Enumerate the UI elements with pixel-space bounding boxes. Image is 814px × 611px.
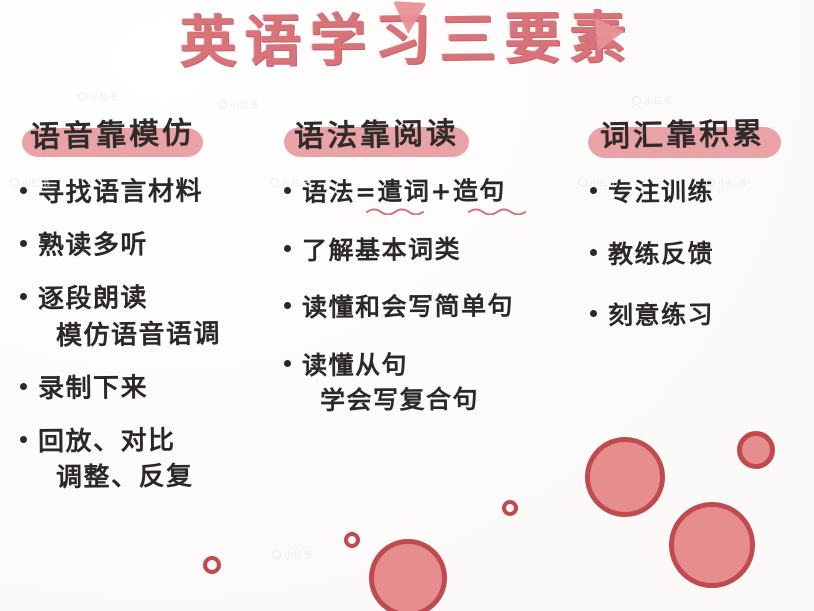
bullet-dot-icon	[590, 310, 597, 317]
list-item: 录制下来	[18, 370, 274, 407]
circle-right-small-decoration	[737, 431, 775, 469]
list-item-line: 模仿语音语调	[38, 315, 274, 355]
poster-header: 英语学习三要素	[0, 6, 814, 76]
list-grammar: 语法=遣词+造句	[282, 174, 572, 418]
list-item: 刻意练习	[588, 297, 808, 333]
list-item-line: 读懂和会写简单句	[302, 288, 572, 326]
list-vocabulary: 专注训练 教练反馈 刻意练习	[588, 174, 808, 333]
watermark-dot-icon	[10, 178, 19, 187]
list-item-line: 寻找语言材料	[38, 173, 274, 213]
circle-bottom-center-decoration	[369, 539, 447, 611]
watermark-label: 小红书	[706, 176, 747, 189]
list-item-line: 调整、反复	[38, 458, 274, 497]
list-item: 熟读多听	[18, 227, 274, 264]
column-header-label: 词汇靠积累	[600, 109, 766, 156]
watermark-label: 小红书	[10, 176, 51, 189]
list-item-line: 录制下来	[38, 369, 274, 408]
watermark-dot-icon	[632, 96, 641, 105]
bullet-dot-icon	[20, 240, 27, 247]
column-header-grammar: 语法靠阅读	[282, 108, 473, 160]
list-item: 寻找语言材料	[18, 174, 274, 211]
column-vocabulary: 词汇靠积累 专注训练 教练反馈 刻意练习	[588, 108, 808, 359]
watermark-label: 小红书	[632, 94, 673, 107]
watermark-dot-icon	[270, 178, 279, 187]
watermark-dot-icon	[78, 92, 87, 101]
watermark-dot-icon	[706, 178, 715, 187]
watermark-label: 小红书	[270, 176, 311, 189]
watermark-label: 小红书	[578, 176, 619, 189]
bullet-dot-icon	[20, 383, 27, 390]
list-item: 教练反馈	[588, 236, 808, 272]
watermark-label: 小红书	[218, 98, 259, 111]
list-item: 专注训练	[588, 174, 808, 210]
list-item: 读懂和会写简单句	[282, 289, 572, 325]
petal-down-icon	[391, 1, 427, 35]
column-pronunciation: 语音靠模仿 寻找语言材料 熟读多听 逐段朗读 模仿语音语调	[18, 108, 274, 512]
squiggle-underline-icon	[366, 206, 428, 215]
ring-mid-left-decoration	[344, 532, 360, 548]
watermark-dot-icon	[272, 550, 281, 559]
list-item-line: 了解基本词类	[302, 230, 572, 268]
poster-canvas: 英语学习三要素 语音靠模仿 寻找语言材料 熟读多听	[0, 0, 814, 611]
bullet-dot-icon	[284, 360, 291, 367]
column-header-label: 语法靠阅读	[294, 108, 460, 155]
watermark-dot-icon	[218, 100, 227, 109]
circle-right-lower-decoration	[669, 502, 755, 588]
column-grammar: 语法靠阅读 语法=遣词+造句	[282, 108, 572, 440]
list-item-line: 熟读多听	[38, 226, 274, 265]
list-item-line: 逐段朗读	[38, 278, 274, 318]
petal-right-icon	[594, 15, 625, 52]
watermark-label: 小红书	[78, 90, 119, 103]
bullet-dot-icon	[284, 302, 291, 309]
column-header-pronunciation: 语音靠模仿	[18, 108, 209, 160]
list-item: 了解基本词类	[282, 232, 572, 268]
watermark-label: 小红书	[272, 548, 313, 561]
column-header-label: 语音靠模仿	[29, 108, 195, 157]
list-item: 逐段朗读 模仿语音语调	[18, 280, 274, 354]
list-pronunciation: 寻找语言材料 熟读多听 逐段朗读 模仿语音语调 录制下来 回放、对比	[18, 174, 274, 496]
watermark-dot-icon	[578, 178, 587, 187]
list-item-line: 回放、对比	[38, 421, 274, 460]
bullet-dot-icon	[590, 249, 597, 256]
column-header-vocabulary: 词汇靠积累	[588, 108, 779, 160]
list-item-line: 教练反馈	[608, 234, 808, 272]
bullet-dot-icon	[20, 293, 27, 300]
list-item: 读懂从句 学会写复合句	[282, 347, 572, 418]
circle-right-upper-decoration	[585, 437, 665, 517]
bullet-dot-icon	[20, 436, 27, 443]
list-item-line: 学会写复合句	[302, 381, 572, 419]
ring-left-lower-decoration	[203, 556, 221, 574]
squiggle-underline-icon	[468, 206, 530, 215]
ring-mid-upper-decoration	[502, 500, 518, 516]
list-item-line: 读懂从句	[302, 345, 572, 383]
list-item: 回放、对比 调整、反复	[18, 423, 274, 497]
bullet-dot-icon	[284, 245, 291, 252]
list-item: 语法=遣词+造句	[282, 174, 572, 210]
list-item-line: 刻意练习	[608, 296, 808, 334]
